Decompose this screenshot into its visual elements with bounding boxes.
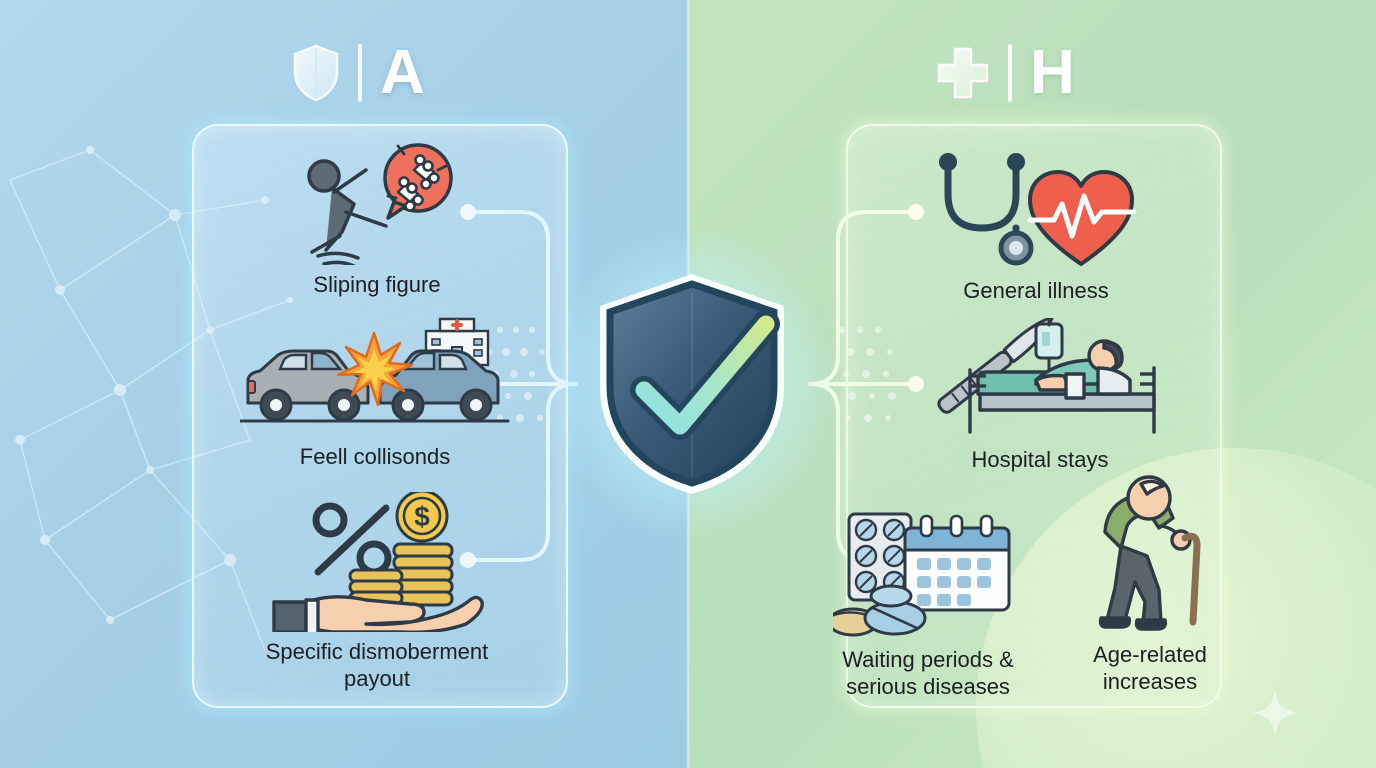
feature-hospital-stays: Hospital stays — [880, 318, 1200, 473]
hand-coins-percent-icon: $ — [212, 492, 542, 632]
center-shield-check — [588, 268, 796, 500]
header-divider — [358, 44, 362, 102]
feature-dismemberment-payout: $ Specific dismoberment payout — [212, 492, 542, 692]
feature-caption: Sliping figure — [212, 271, 542, 298]
feature-caption-line-2: serious diseases — [818, 673, 1038, 700]
feature-caption-line-2: increases — [1060, 668, 1240, 695]
feature-caption: General illness — [876, 277, 1196, 304]
feature-caption-line-2: payout — [212, 665, 542, 692]
left-panel-letter: A — [380, 42, 425, 104]
feature-caption: Hospital stays — [880, 446, 1200, 473]
shield-icon — [292, 44, 340, 102]
feature-caption-line-1: Age-related — [1060, 641, 1240, 668]
slipping-figure-icon — [212, 140, 542, 265]
feature-caption-line-1: Specific dismoberment — [212, 638, 542, 665]
right-panel-letter: H — [1030, 42, 1075, 104]
medical-cross-icon — [936, 46, 990, 100]
shield-check-icon — [588, 268, 796, 500]
pills-calendar-icon — [818, 512, 1038, 640]
left-panel-header: A — [292, 36, 425, 110]
infographic-canvas: A H — [0, 0, 1376, 768]
right-panel-header: H — [936, 36, 1075, 110]
feature-caption: Feell collisonds — [200, 443, 550, 470]
feature-slipping-figure: Sliping figure — [212, 140, 542, 298]
scalpel-hospital-bed-icon — [880, 318, 1200, 440]
stethoscope-heart-icon — [876, 136, 1196, 271]
feature-general-illness: General illness — [876, 136, 1196, 304]
feature-caption-line-1: Waiting periods & — [818, 646, 1038, 673]
feature-age-related-increases: Age-related increases — [1060, 470, 1240, 695]
svg-text:$: $ — [414, 501, 430, 532]
feature-waiting-periods: Waiting periods & serious diseases — [818, 512, 1038, 700]
feature-car-collision: Feell collisonds — [200, 315, 550, 470]
sparkle-icon — [1252, 690, 1298, 736]
header-divider — [1008, 44, 1012, 102]
elderly-person-cane-icon — [1060, 470, 1240, 635]
car-collision-icon — [200, 315, 550, 437]
